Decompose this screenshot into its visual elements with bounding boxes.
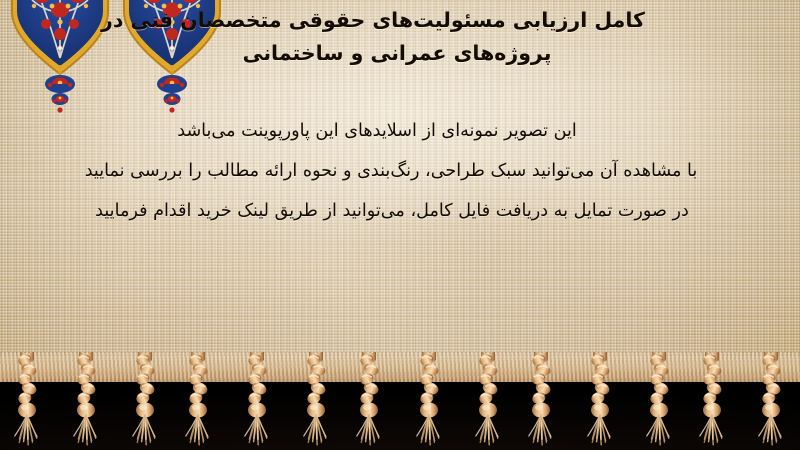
- fringe-tassel: [295, 352, 337, 448]
- fringe-tassel: [177, 352, 219, 448]
- fringe-tassel: [638, 352, 680, 448]
- fringe-tassel: [520, 352, 562, 448]
- carpet-knotted-fringe: [0, 352, 800, 450]
- fringe-tassel: [6, 352, 48, 448]
- title-line-2: پروژه‌های عمرانی و ساختمانی: [54, 37, 744, 70]
- fringe-tassel: [579, 352, 621, 448]
- fringe-tassel: [124, 352, 166, 448]
- slide-title: کامل ارزیابی مسئولیت‌های حقوقی متخصصان ف…: [54, 4, 744, 70]
- body-line-2: با مشاهده آن می‌توانید سبک طراحی، رنگ‌بن…: [10, 152, 790, 192]
- fringe-tassel: [750, 352, 792, 448]
- fringe-tassel: [65, 352, 107, 448]
- fringe-tassel: [467, 352, 509, 448]
- fringe-tassel: [691, 352, 733, 448]
- fringe-tassel: [348, 352, 390, 448]
- body-line-1: این تصویر نمونه‌ای از اسلایدهای این پاور…: [10, 112, 790, 152]
- body-line-3: در صورت تمایل به دریافت فایل کامل، می‌تو…: [10, 192, 790, 232]
- slide-canvas: کامل ارزیابی مسئولیت‌های حقوقی متخصصان ف…: [0, 0, 800, 450]
- title-line-1: کامل ارزیابی مسئولیت‌های حقوقی متخصصان ف…: [54, 4, 744, 37]
- fringe-tassel: [236, 352, 278, 448]
- slide-body: این تصویر نمونه‌ای از اسلایدهای این پاور…: [10, 112, 790, 232]
- fringe-tassel: [408, 352, 450, 448]
